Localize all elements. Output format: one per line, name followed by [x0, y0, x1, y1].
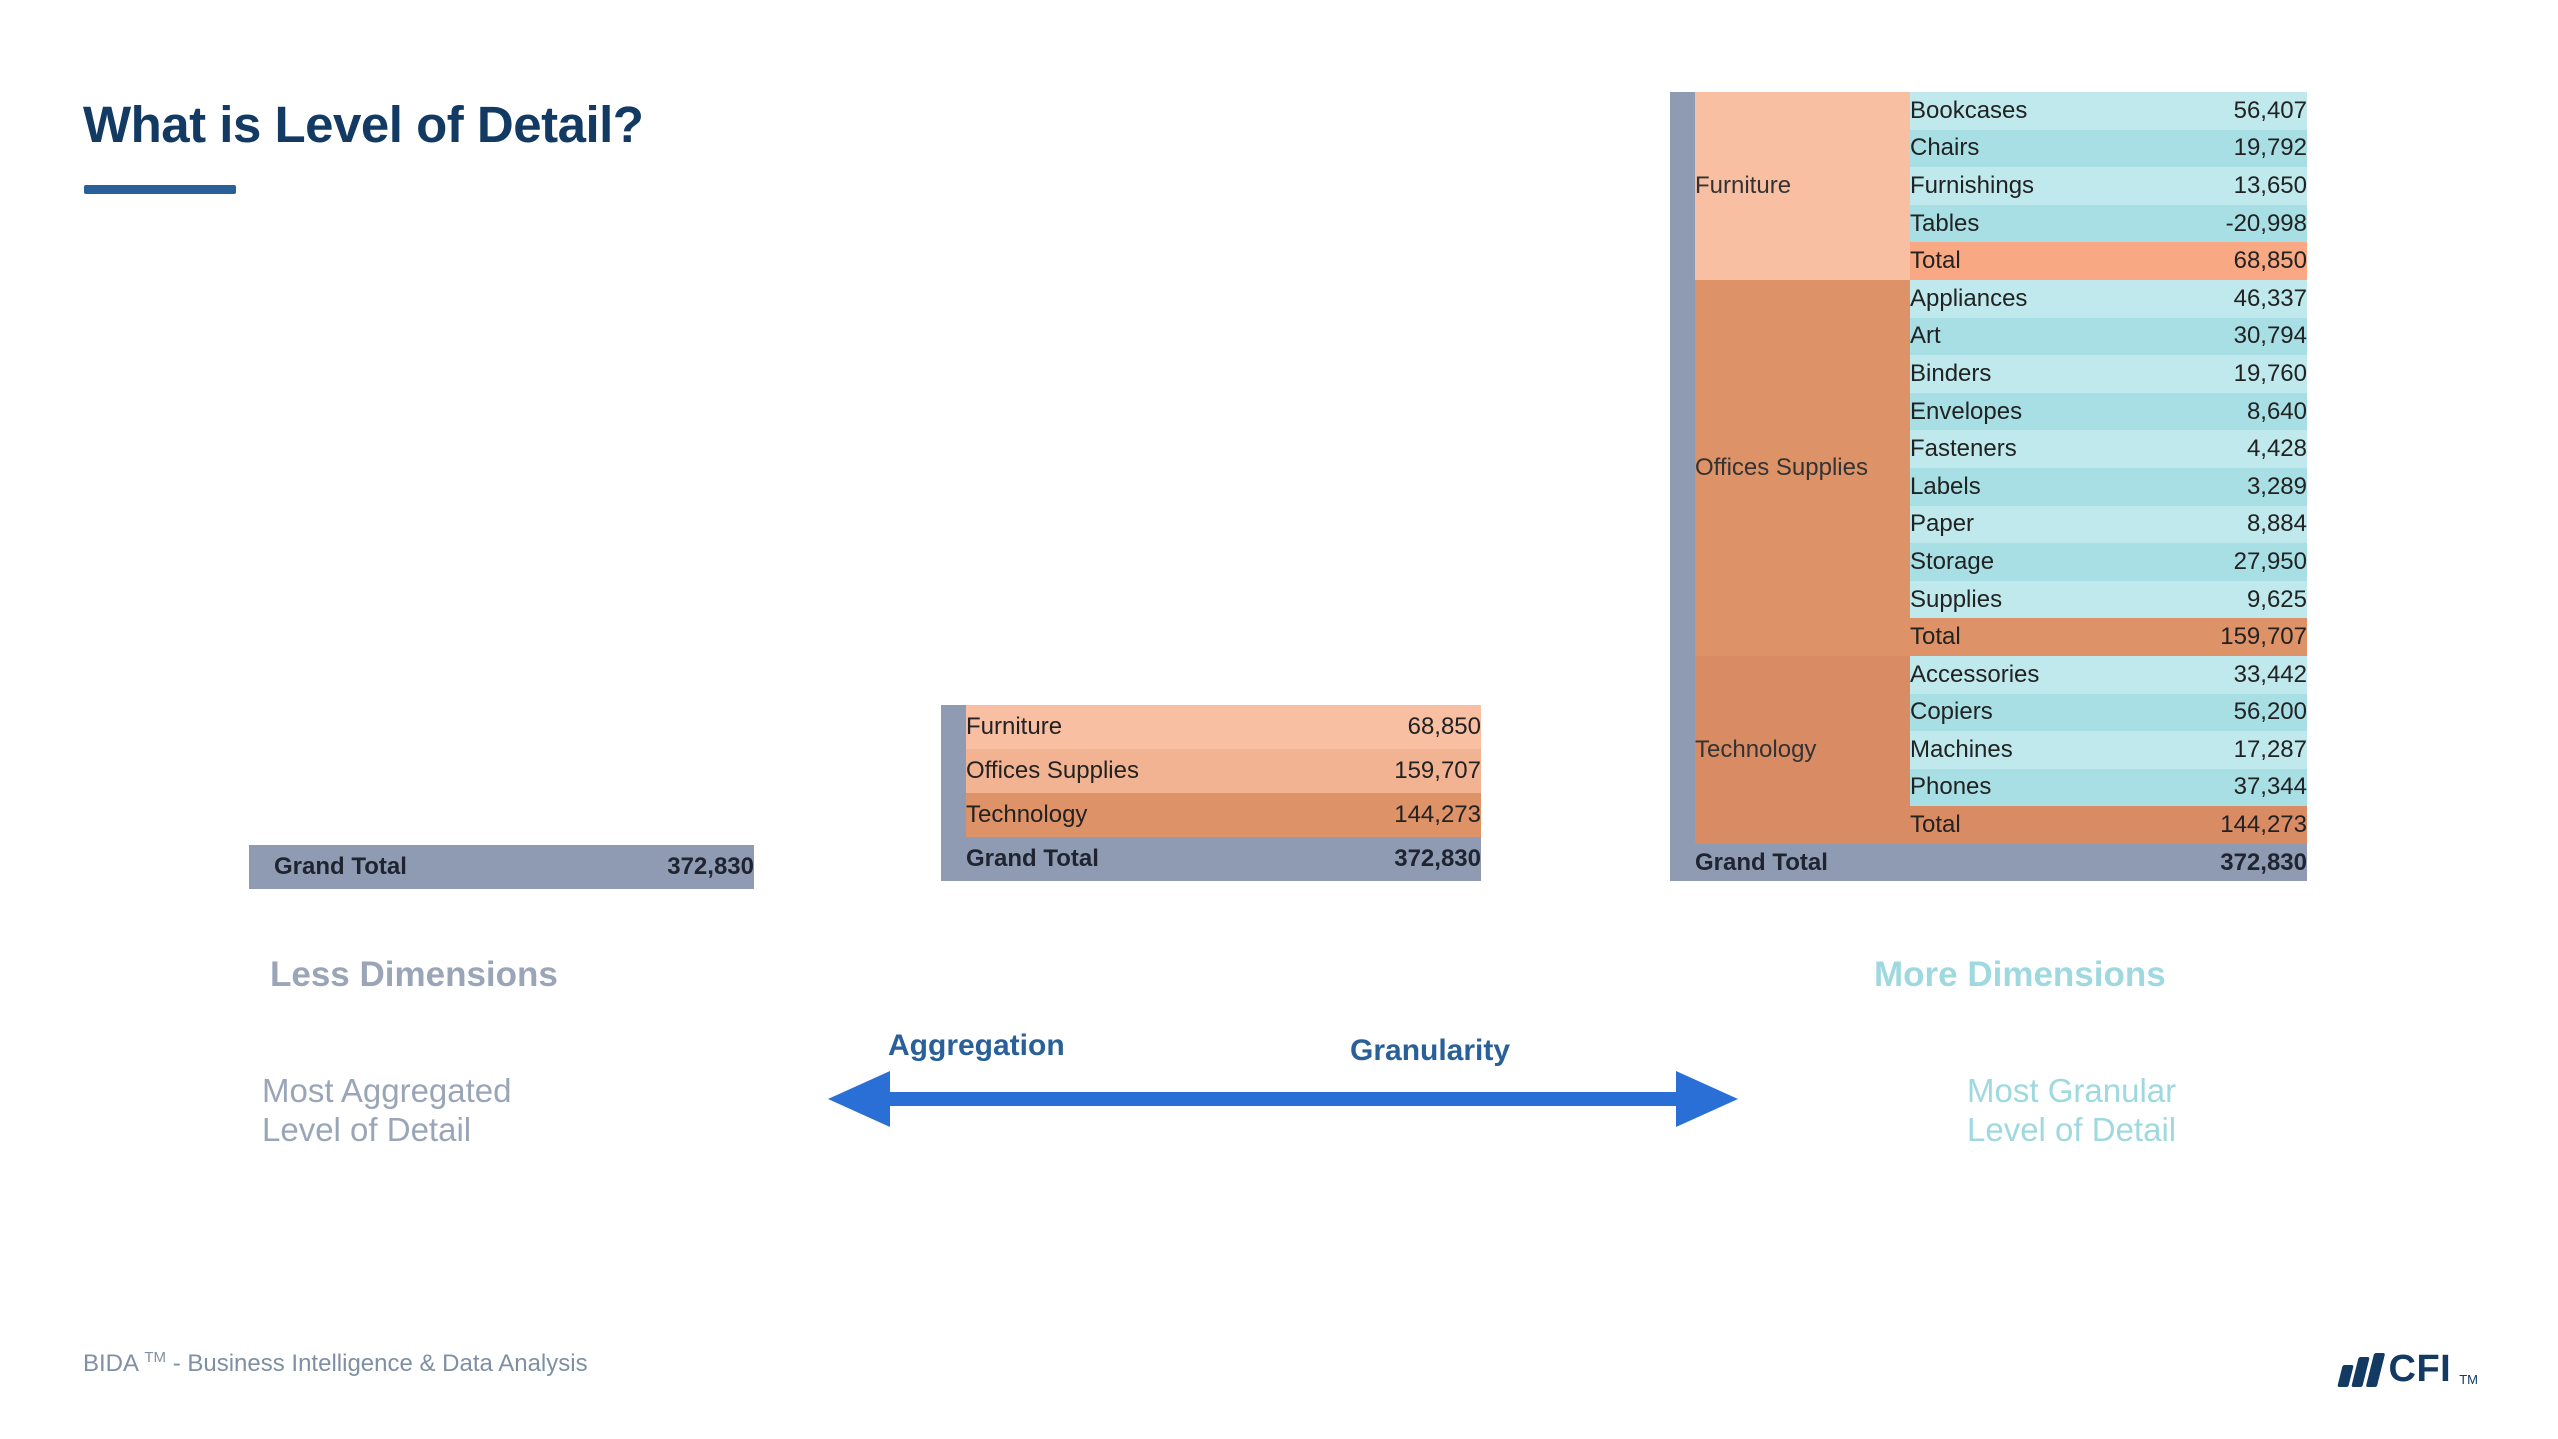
- table-spine: [941, 837, 966, 881]
- row-value: -20,998: [2170, 205, 2307, 243]
- arrow-label-aggregation: Aggregation: [888, 1029, 1065, 1063]
- double-arrow-icon: [828, 1070, 1738, 1130]
- row-value: 37,344: [2170, 769, 2307, 807]
- row-label: Offices Supplies: [966, 749, 1309, 793]
- row-value: 46,337: [2170, 280, 2307, 318]
- table-row: Grand Total 372,830: [249, 845, 754, 889]
- arrow-label-granularity: Granularity: [1350, 1034, 1510, 1068]
- caption-more-dimensions: More Dimensions: [1874, 955, 2166, 995]
- group-total-label: Total: [1910, 618, 2170, 656]
- row-value: 56,200: [2170, 694, 2307, 732]
- caption-most-granular-line1: Most Granular: [1967, 1072, 2176, 1111]
- row-label: Accessories: [1910, 656, 2170, 694]
- row-value: 3,289: [2170, 468, 2307, 506]
- table-row: Technology Accessories 33,442: [1670, 656, 2307, 694]
- grand-total-label: Grand Total: [1695, 844, 2170, 882]
- row-value: 19,792: [2170, 130, 2307, 168]
- category-label: Furniture: [1695, 92, 1910, 280]
- pivot-table-aggregated: Grand Total 372,830: [249, 845, 754, 889]
- row-label: Labels: [1910, 468, 2170, 506]
- category-label: Technology: [1695, 656, 1910, 844]
- aggregation-granularity-arrow: Aggregation Granularity: [828, 1030, 1738, 1100]
- table-spine: [1670, 844, 1695, 882]
- caption-most-granular: Most Granular Level of Detail: [1967, 1072, 2176, 1150]
- cfi-logo-text: CFI: [2389, 1348, 2452, 1391]
- row-value: 17,287: [2170, 731, 2307, 769]
- title-underline: [84, 185, 236, 194]
- group-total-label: Total: [1910, 806, 2170, 844]
- row-value: 56,407: [2170, 92, 2307, 130]
- table-row: Furniture 68,850: [941, 705, 1481, 749]
- row-label: Storage: [1910, 543, 2170, 581]
- row-value: 30,794: [2170, 318, 2307, 356]
- table-spine: [1670, 92, 1695, 280]
- row-value: 159,707: [1309, 749, 1481, 793]
- category-label: Offices Supplies: [1695, 280, 1910, 656]
- table-row: Technology 144,273: [941, 793, 1481, 837]
- table-row: Furniture Bookcases 56,407: [1670, 92, 2307, 130]
- table-row: Grand Total 372,830: [941, 837, 1481, 881]
- group-total-value: 144,273: [2170, 806, 2307, 844]
- row-label: Paper: [1910, 506, 2170, 544]
- grand-total-label: Grand Total: [274, 845, 564, 889]
- caption-most-aggregated-line2: Level of Detail: [262, 1111, 512, 1150]
- footer-text-after: - Business Intelligence & Data Analysis: [166, 1350, 588, 1377]
- caption-less-dimensions: Less Dimensions: [270, 955, 558, 995]
- row-value: 8,640: [2170, 393, 2307, 431]
- cfi-logo: CFI TM: [2340, 1348, 2479, 1391]
- row-label: Supplies: [1910, 581, 2170, 619]
- cfi-logo-tm: TM: [2459, 1372, 2478, 1387]
- caption-most-aggregated: Most Aggregated Level of Detail: [262, 1072, 512, 1150]
- footer-text-before: BIDA: [83, 1350, 144, 1377]
- row-value: 33,442: [2170, 656, 2307, 694]
- group-total-label: Total: [1910, 242, 2170, 280]
- row-label: Copiers: [1910, 694, 2170, 732]
- table-row: Grand Total 372,830: [1670, 844, 2307, 882]
- row-label: Furnishings: [1910, 167, 2170, 205]
- row-label: Chairs: [1910, 130, 2170, 168]
- row-value: 19,760: [2170, 355, 2307, 393]
- row-value: 4,428: [2170, 430, 2307, 468]
- row-value: 8,884: [2170, 506, 2307, 544]
- table-row: Offices Supplies Appliances 46,337: [1670, 280, 2307, 318]
- row-label: Fasteners: [1910, 430, 2170, 468]
- grand-total-label: Grand Total: [966, 837, 1309, 881]
- cfi-logo-bars-icon: [2340, 1353, 2381, 1387]
- footer-credit: BIDA TM - Business Intelligence & Data A…: [83, 1349, 588, 1378]
- row-label: Tables: [1910, 205, 2170, 243]
- table-spine: [1670, 280, 1695, 656]
- grand-total-value: 372,830: [1309, 837, 1481, 881]
- pivot-table-granular: Furniture Bookcases 56,407 Chairs 19,792…: [1670, 92, 2307, 881]
- table-spine: [941, 793, 966, 837]
- row-label: Bookcases: [1910, 92, 2170, 130]
- row-value: 144,273: [1309, 793, 1481, 837]
- caption-most-aggregated-line1: Most Aggregated: [262, 1072, 512, 1111]
- row-label: Phones: [1910, 769, 2170, 807]
- row-label: Machines: [1910, 731, 2170, 769]
- table-spine: [1670, 656, 1695, 844]
- row-label: Appliances: [1910, 280, 2170, 318]
- group-total-value: 159,707: [2170, 618, 2307, 656]
- row-label: Binders: [1910, 355, 2170, 393]
- table-row: Offices Supplies 159,707: [941, 749, 1481, 793]
- row-value: 68,850: [1309, 705, 1481, 749]
- row-label: Art: [1910, 318, 2170, 356]
- table-spine: [941, 705, 966, 749]
- table-spine: [941, 749, 966, 793]
- page-title: What is Level of Detail?: [83, 95, 643, 154]
- row-value: 9,625: [2170, 581, 2307, 619]
- row-label: Furniture: [966, 705, 1309, 749]
- row-label: Technology: [966, 793, 1309, 837]
- caption-most-granular-line2: Level of Detail: [1967, 1111, 2176, 1150]
- table-spine: [249, 845, 274, 889]
- footer-tm: TM: [144, 1349, 166, 1366]
- row-value: 13,650: [2170, 167, 2307, 205]
- pivot-table-category: Furniture 68,850 Offices Supplies 159,70…: [941, 705, 1481, 881]
- grand-total-value: 372,830: [564, 845, 754, 889]
- row-label: Envelopes: [1910, 393, 2170, 431]
- grand-total-value: 372,830: [2170, 844, 2307, 882]
- row-value: 27,950: [2170, 543, 2307, 581]
- group-total-value: 68,850: [2170, 242, 2307, 280]
